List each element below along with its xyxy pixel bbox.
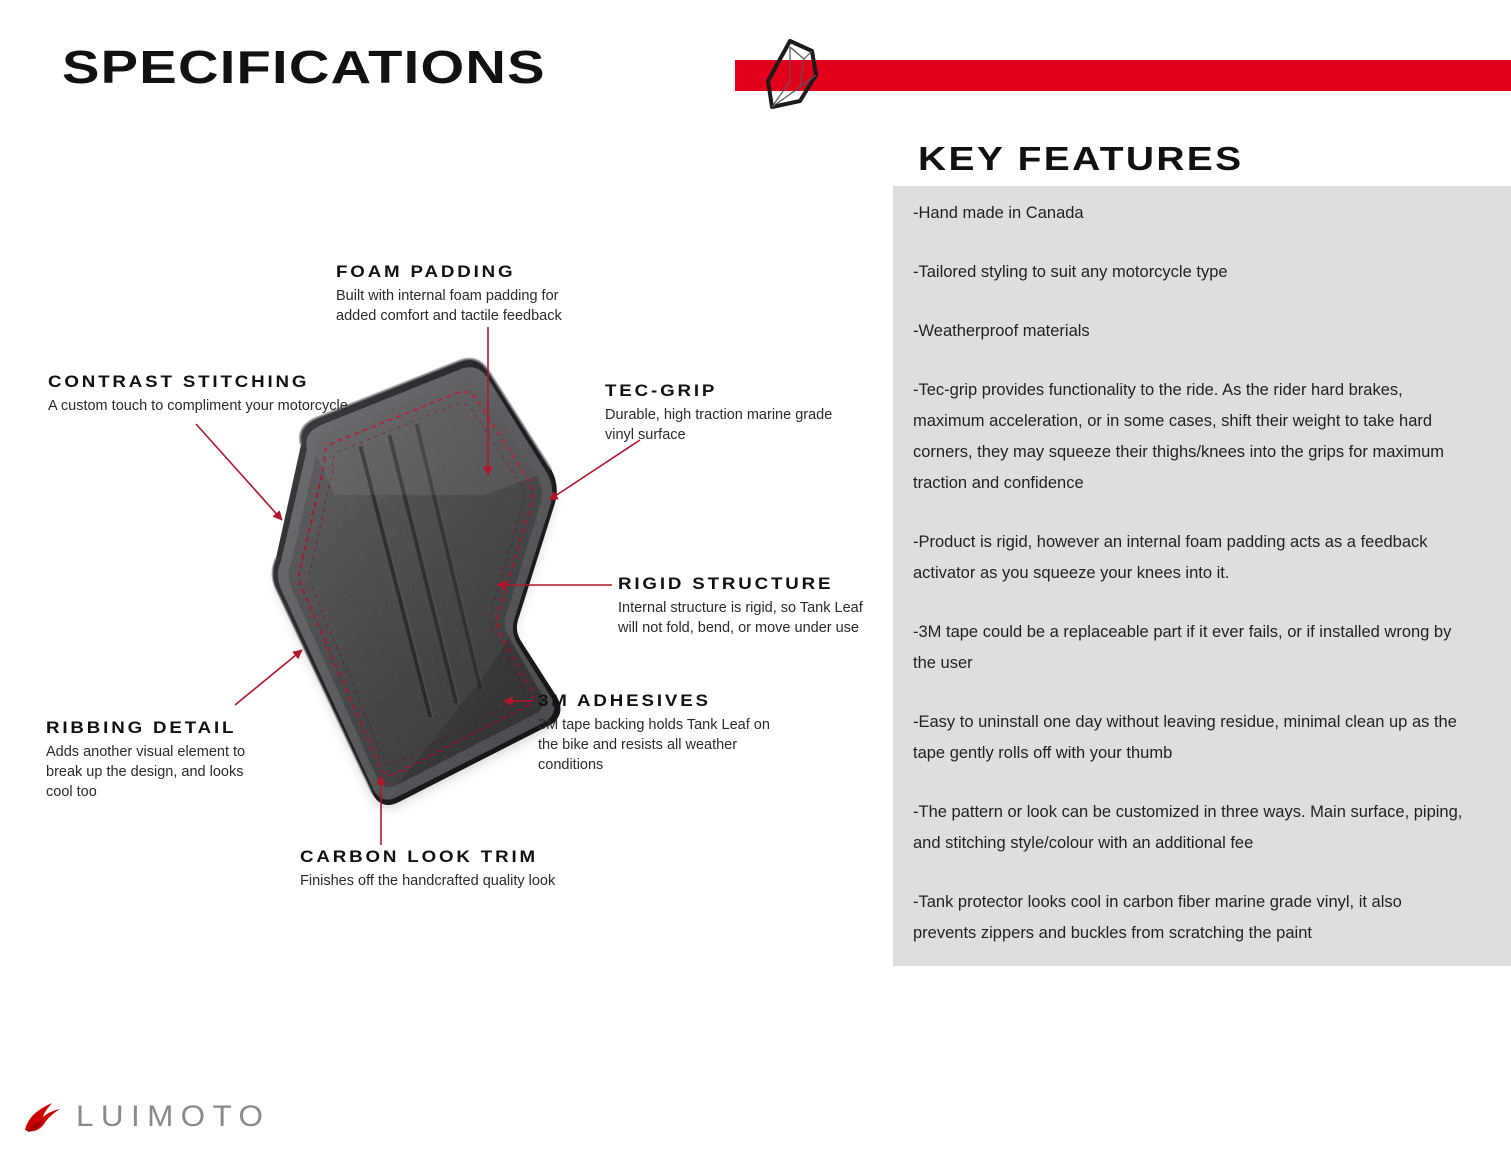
- callout-desc: Durable, high traction marine grade viny…: [605, 405, 850, 445]
- callout-desc: Adds another visual element to break up …: [46, 742, 261, 802]
- footer-brand-name: LUIMOTO: [76, 1100, 270, 1134]
- callout-foam-padding: FOAM PADDING Built with internal foam pa…: [336, 262, 596, 326]
- callout-title: TEC-GRIP: [605, 381, 880, 401]
- tank-leaf-outline-icon: [760, 37, 830, 112]
- key-feature-item: -The pattern or look can be customized i…: [913, 797, 1465, 859]
- key-feature-item: -Tank protector looks cool in carbon fib…: [913, 887, 1465, 949]
- spec-sheet-page: SPECIFICATIONS KEY FEATURES -Hand made i…: [0, 0, 1511, 1167]
- luimoto-bird-icon: [22, 1100, 62, 1134]
- callout-title: FOAM PADDING: [336, 262, 622, 282]
- header-accent-bar: [735, 60, 1511, 91]
- callout-rigid-structure: RIGID STRUCTURE Internal structure is ri…: [618, 574, 868, 638]
- callout-carbon-look-trim: CARBON LOOK TRIM Finishes off the handcr…: [300, 847, 580, 891]
- callout-contrast-stitching: CONTRAST STITCHING A custom touch to com…: [48, 372, 348, 416]
- footer-brand-logo: LUIMOTO: [22, 1096, 261, 1138]
- callout-title: CONTRAST STITCHING: [48, 372, 378, 392]
- callout-desc: A custom touch to compliment your motorc…: [48, 396, 348, 416]
- key-feature-item: -3M tape could be a replaceable part if …: [913, 617, 1465, 679]
- key-feature-item: -Tec-grip provides functionality to the …: [913, 375, 1465, 499]
- callout-title: CARBON LOOK TRIM: [300, 847, 608, 867]
- callout-desc: 3M tape backing holds Tank Leaf on the b…: [538, 715, 776, 775]
- callout-3m-adhesives: 3M ADHESIVES 3M tape backing holds Tank …: [538, 691, 788, 775]
- key-feature-item: -Tailored styling to suit any motorcycle…: [913, 257, 1465, 288]
- page-title: SPECIFICATIONS: [62, 40, 546, 94]
- callout-title: RIBBING DETAIL: [46, 718, 299, 738]
- key-features-list: -Hand made in Canada -Tailored styling t…: [893, 186, 1511, 966]
- callout-desc: Internal structure is rigid, so Tank Lea…: [618, 598, 866, 638]
- callout-desc: Finishes off the handcrafted quality loo…: [300, 871, 580, 891]
- key-features-panel: -Hand made in Canada -Tailored styling t…: [893, 186, 1511, 966]
- key-feature-item: -Weatherproof materials: [913, 316, 1465, 347]
- callout-title: 3M ADHESIVES: [538, 691, 813, 711]
- callout-tec-grip: TEC-GRIP Durable, high traction marine g…: [605, 381, 855, 445]
- key-feature-item: -Easy to uninstall one day without leavi…: [913, 707, 1465, 769]
- key-features-title: KEY FEATURES: [918, 140, 1243, 178]
- key-feature-item: -Hand made in Canada: [913, 198, 1465, 229]
- callout-ribbing-detail: RIBBING DETAIL Adds another visual eleme…: [46, 718, 276, 802]
- callout-title: RIGID STRUCTURE: [618, 574, 893, 594]
- callout-desc: Built with internal foam padding for add…: [336, 286, 586, 326]
- key-feature-item: -Product is rigid, however an internal f…: [913, 527, 1465, 589]
